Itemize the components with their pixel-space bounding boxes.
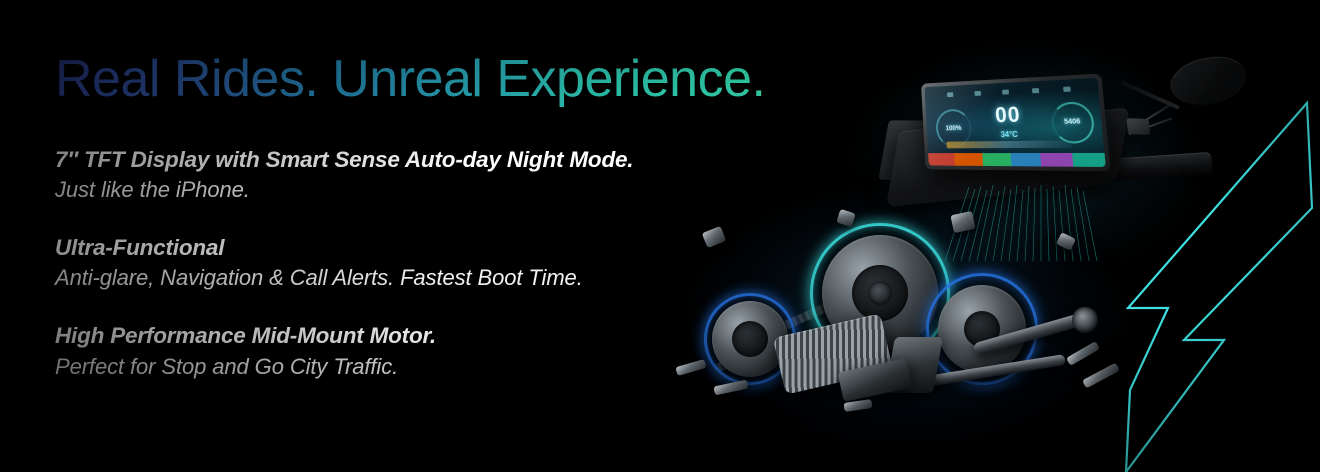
display-screen: 100% 00 5406 34°C <box>925 78 1106 167</box>
exploded-pin <box>1082 363 1120 389</box>
exploded-pin <box>713 380 748 396</box>
status-segment <box>1011 153 1042 166</box>
pivot-bearing <box>1072 307 1098 333</box>
right-gauge-value: 5406 <box>1064 119 1081 127</box>
display-connector <box>1126 118 1150 135</box>
feature-subtitle: Just like the iPhone. <box>55 176 845 205</box>
motor-assembly <box>690 215 1130 430</box>
status-segment <box>982 153 1012 166</box>
display-temperature: 34°C <box>1000 130 1018 139</box>
display-status-icons <box>937 83 1083 100</box>
display-status-bar <box>928 153 1106 167</box>
bluetooth-icon <box>974 91 981 96</box>
display-ticker-bar <box>946 140 1072 149</box>
status-segment <box>1072 153 1106 167</box>
main-gear-bore <box>868 281 892 305</box>
bell-icon <box>1063 87 1071 92</box>
lightning-bolt-outline <box>1120 90 1320 472</box>
gps-icon <box>1002 90 1009 95</box>
display-bezel: 100% 00 5406 34°C <box>921 73 1111 171</box>
page-title: Real Rides. Unreal Experience. <box>55 52 765 107</box>
display-speed-readout: 00 <box>994 104 1021 126</box>
pulley-left-hub <box>732 321 768 357</box>
rear-view-mirror <box>1166 51 1250 112</box>
feature-title: 7″ TFT Display with Smart Sense Auto-day… <box>55 146 845 173</box>
exploded-bolt <box>1056 232 1076 251</box>
display-right-gauge: 5406 <box>1050 101 1096 144</box>
status-segment <box>1040 153 1072 166</box>
status-segment <box>954 153 982 165</box>
status-segment <box>928 154 955 166</box>
exploded-bolt <box>836 209 856 227</box>
hero-banner: Real Rides. Unreal Experience. 7″ TFT Di… <box>0 0 1320 472</box>
exploded-bolt <box>702 226 727 248</box>
exploded-pin <box>1066 341 1100 366</box>
battery-icon <box>1032 88 1039 93</box>
signal-icon <box>947 92 953 97</box>
left-gauge-value: 100% <box>945 125 961 132</box>
tft-display-unit: 100% 00 5406 34°C <box>874 59 1147 220</box>
exploded-bolt <box>950 211 975 233</box>
feature-item-display: 7″ TFT Display with Smart Sense Auto-day… <box>55 146 845 205</box>
